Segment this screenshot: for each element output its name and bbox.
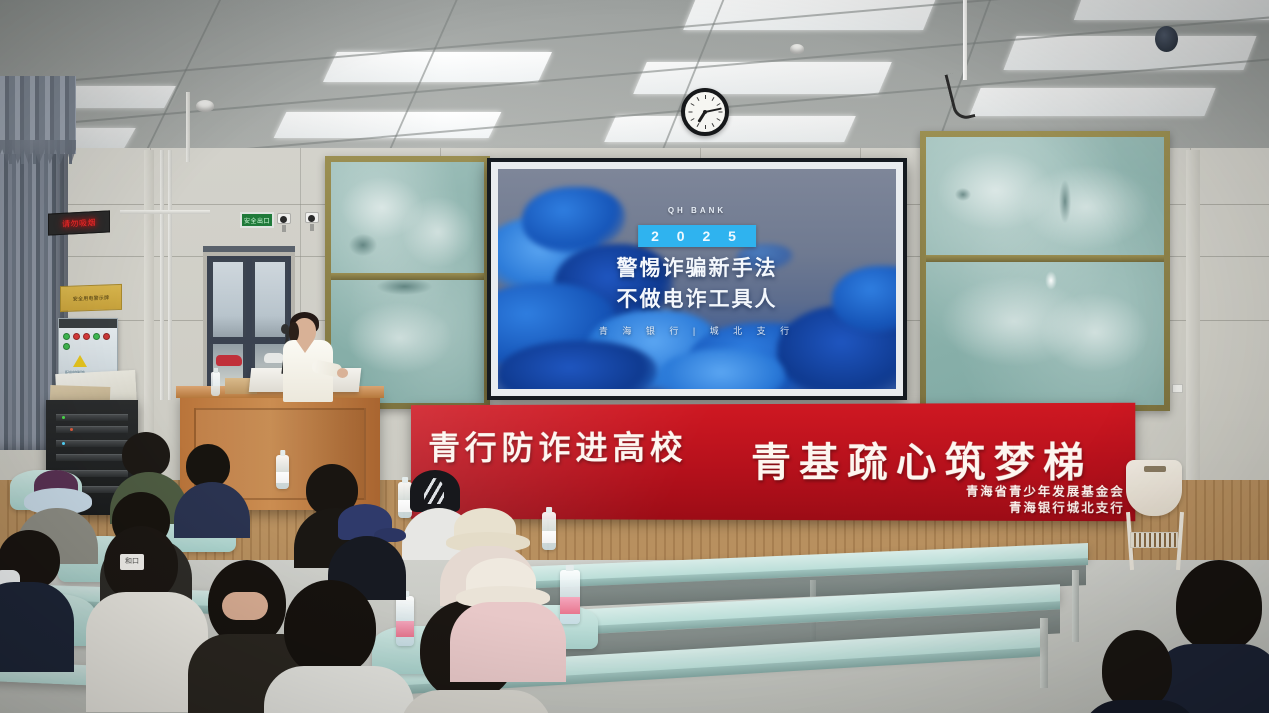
banner-organizations: 青海省青少年发展基金会 青海银行城北支行 bbox=[966, 483, 1125, 516]
water-bottle bbox=[211, 372, 220, 396]
cap-pattern bbox=[424, 478, 444, 504]
exit-sign-text: 安全出口 bbox=[244, 216, 270, 225]
projection-screen[interactable]: QH BANK 2 0 2 5 警惕诈骗新手法 不做电诈工具人 青 海 银 行 … bbox=[487, 158, 907, 400]
head bbox=[1176, 560, 1262, 652]
desk-leg bbox=[1072, 570, 1079, 642]
slide-subtitle: 青 海 银 行 | 城 北 支 行 bbox=[498, 324, 896, 337]
shoulders bbox=[400, 690, 552, 713]
outside-car bbox=[216, 355, 242, 366]
shoulders bbox=[450, 602, 566, 682]
chair-wire-basket bbox=[1130, 532, 1178, 548]
slide-headline-1: 警惕诈骗新手法 bbox=[498, 252, 896, 282]
panel-button-red[interactable] bbox=[103, 333, 110, 340]
water-bottle bbox=[542, 512, 556, 550]
water-bottle bbox=[396, 596, 414, 646]
security-camera-icon bbox=[305, 212, 319, 223]
banner-text-left: 青行防诈进高校 bbox=[428, 421, 687, 469]
panel-button-green[interactable] bbox=[63, 343, 70, 350]
safety-sign-text: 安全用电警示牌 bbox=[73, 294, 109, 302]
chalkboard-right bbox=[920, 131, 1170, 411]
led-scrolling-sign: 请勿吸烟 bbox=[48, 210, 110, 235]
head bbox=[284, 580, 376, 676]
wall-speaker-icon bbox=[1155, 26, 1178, 52]
wall-conduit bbox=[186, 92, 190, 162]
folding-chair[interactable] bbox=[1122, 460, 1184, 570]
status-led bbox=[70, 428, 73, 431]
slide-brand: QH BANK bbox=[498, 206, 896, 215]
wall-conduit bbox=[120, 210, 210, 214]
wall-pillar bbox=[144, 150, 154, 480]
shoulders bbox=[264, 666, 414, 713]
ceiling-hanging-pipe bbox=[963, 0, 967, 80]
panel-button-green[interactable] bbox=[63, 333, 70, 340]
exit-sign: 安全出口 bbox=[240, 212, 274, 228]
curtain-valance-scallop bbox=[0, 140, 76, 164]
security-camera-icon bbox=[277, 213, 291, 224]
status-led bbox=[62, 442, 65, 445]
presentation-slide: QH BANK 2 0 2 5 警惕诈骗新手法 不做电诈工具人 青 海 银 行 … bbox=[498, 169, 896, 389]
presenter bbox=[279, 310, 341, 402]
panel-buttons[interactable] bbox=[59, 328, 117, 350]
status-led bbox=[62, 416, 65, 419]
banner-org-line-1: 青海省青少年发展基金会 bbox=[966, 483, 1125, 500]
head bbox=[1102, 630, 1172, 710]
warning-triangle-icon bbox=[73, 355, 87, 367]
panel-button-red[interactable] bbox=[73, 333, 80, 340]
event-banner: 青行防诈进高校 青基疏心筑梦梯 青海省青少年发展基金会 青海银行城北支行 bbox=[411, 403, 1135, 521]
led-sign-text: 请勿吸烟 bbox=[62, 217, 96, 230]
shoulders bbox=[0, 582, 74, 672]
wall-clock bbox=[681, 88, 729, 136]
slide-headline-2: 不做电诈工具人 bbox=[498, 283, 896, 313]
chair-handle bbox=[1144, 466, 1166, 472]
slide-year-badge: 2 0 2 5 bbox=[638, 225, 756, 247]
water-bottle bbox=[560, 570, 580, 624]
dome-camera-icon bbox=[196, 100, 214, 112]
panel-button-red[interactable] bbox=[83, 333, 90, 340]
wall-conduit bbox=[160, 150, 164, 400]
desk-leg bbox=[1040, 618, 1048, 688]
hair-clip: 和口 bbox=[120, 554, 144, 570]
banner-org-line-2: 青海银行城北支行 bbox=[966, 499, 1125, 516]
clasped-hands bbox=[222, 592, 268, 620]
banner-text-right: 青基疏心筑梦梯 bbox=[751, 429, 1093, 488]
safety-warning-sign: 安全用电警示牌 bbox=[60, 284, 122, 312]
classroom-scene: 请勿吸烟 安全用电警示牌 配电控制箱 安全出口 bbox=[0, 0, 1269, 713]
water-bottle bbox=[276, 455, 289, 489]
wall-conduit bbox=[168, 150, 172, 400]
panel-button-green[interactable] bbox=[93, 333, 100, 340]
dome-camera-icon bbox=[790, 44, 804, 54]
wall-outlet[interactable] bbox=[1172, 384, 1183, 393]
